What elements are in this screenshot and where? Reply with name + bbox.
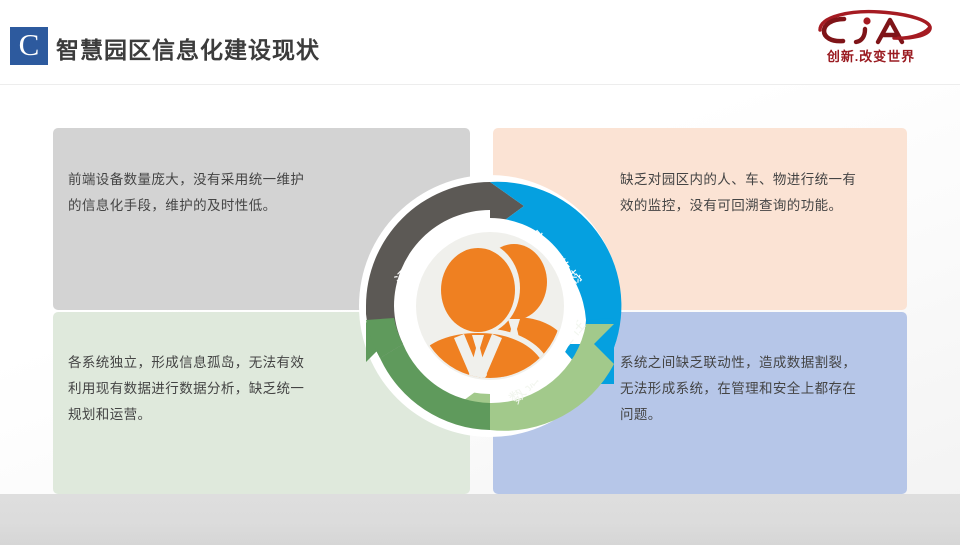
slide-header: C 智慧园区信息化建设现状 创新.改变世界	[0, 0, 960, 84]
slide-canvas: C 智慧园区信息化建设现状 创新.改变世界 前端设备数	[0, 0, 960, 545]
page-title: 智慧园区信息化建设现状	[56, 31, 320, 65]
header-divider	[0, 84, 960, 85]
section-badge: C	[10, 27, 48, 65]
cycle-wheel-diagram: 运行维护 安全监控 数据与安全性 运营管	[356, 172, 624, 440]
company-logo: 创新.改变世界	[798, 8, 938, 66]
panel-top-left-text: 前端设备数量庞大，没有采用统一维护 的信息化手段，维护的及时性低。	[68, 167, 368, 219]
panel-top-right-text: 缺乏对园区内的人、车、物进行统一有 效的监控，没有可回溯查询的功能。	[620, 167, 920, 219]
logo-tagline: 创新.改变世界	[804, 46, 938, 65]
footer-strip	[0, 494, 960, 545]
section-badge-letter: C	[19, 29, 40, 63]
logo-mark-icon	[798, 8, 938, 48]
panel-bottom-right-text: 系统之间缺乏联动性，造成数据割裂， 无法形成系统，在管理和安全上都存在 问题。	[620, 350, 920, 428]
panel-bottom-left-text: 各系统独立，形成信息孤岛，无法有效 利用现有数据进行数据分析，缺乏统一 规划和运…	[68, 350, 368, 428]
